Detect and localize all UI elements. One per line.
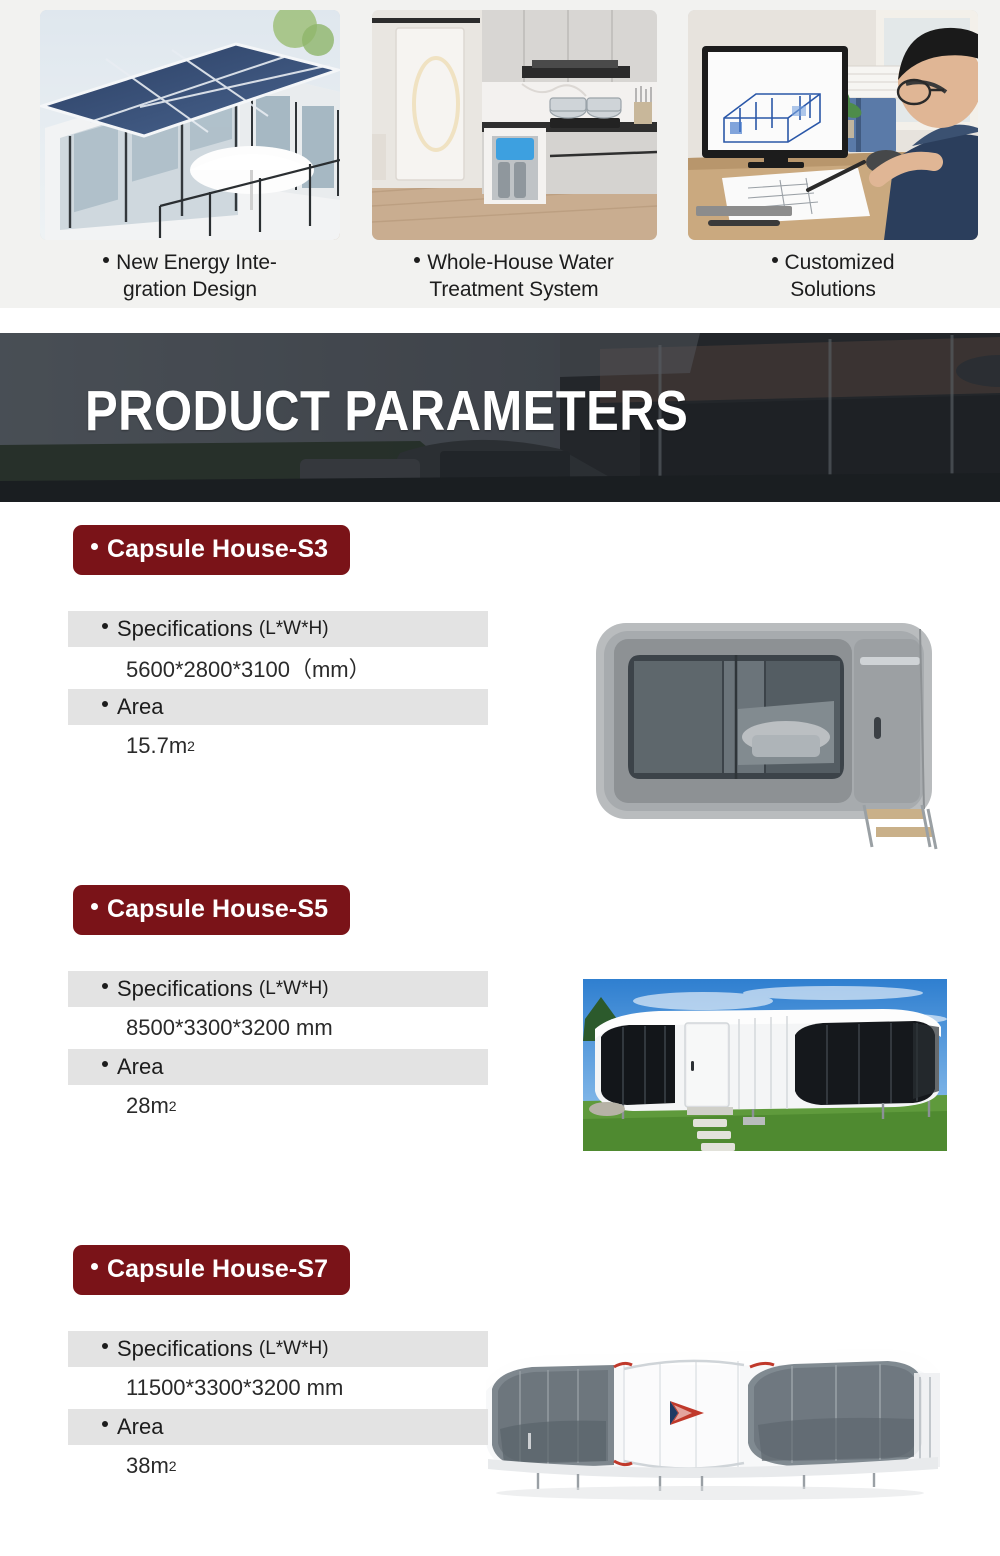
capsule-house-s7-photo[interactable] xyxy=(474,1333,948,1503)
kitchen-water-filtration-photo[interactable] xyxy=(372,10,657,240)
area-row-value: 38m2 xyxy=(68,1445,488,1487)
bullet-icon xyxy=(102,1421,108,1427)
spec-label-text: Specifications xyxy=(117,1336,253,1362)
area-value-text: 38m xyxy=(126,1453,169,1479)
bullet-icon xyxy=(102,983,108,989)
area-row-value: 28m2 xyxy=(68,1085,488,1127)
product-block-s5: Capsule House-S5 xyxy=(0,885,1000,1245)
area-label-text: Area xyxy=(117,1054,163,1080)
spec-label-suffix: (L*W*H) xyxy=(259,978,329,1000)
spec-row-label: Specifications (L*W*H) xyxy=(68,971,488,1007)
capsule-house-s3-photo[interactable] xyxy=(588,613,948,861)
bullet-icon xyxy=(102,1343,108,1349)
area-row-label: Area xyxy=(68,1409,488,1445)
bullet-icon xyxy=(772,257,778,263)
product-block-s3: Capsule House-S3 xyxy=(0,525,1000,895)
product-name-badge-s7[interactable]: Capsule House-S7 xyxy=(73,1245,350,1295)
bullet-icon xyxy=(414,257,420,263)
area-row-label: Area xyxy=(68,1049,488,1085)
spec-label-suffix: (L*W*H) xyxy=(259,618,329,640)
spec-row-label: Specifications (L*W*H) xyxy=(68,1331,488,1367)
spec-row-value: 11500*3300*3200 mm xyxy=(68,1367,488,1409)
spec-row-value: 5600*2800*3100（mm） xyxy=(68,647,488,689)
feature-caption-text: Whole-House WaterTreatment System xyxy=(427,251,614,301)
product-name-badge-s5[interactable]: Capsule House-S5 xyxy=(73,885,350,935)
feature-item-water-treatment[interactable]: Whole-House WaterTreatment System xyxy=(372,10,657,308)
bullet-icon xyxy=(91,543,98,550)
feature-caption: New Energy Inte-gration Design xyxy=(103,250,277,304)
spec-label-suffix: (L*W*H) xyxy=(259,1338,329,1360)
product-name: Capsule House-S3 xyxy=(107,535,328,563)
area-label-text: Area xyxy=(117,694,163,720)
capsule-house-s5-photo[interactable] xyxy=(583,979,947,1151)
bullet-icon xyxy=(103,257,109,263)
area-row-value: 15.7m2 xyxy=(68,725,488,767)
spec-table-s3: Specifications (L*W*H) 5600*2800*3100（mm… xyxy=(68,611,488,767)
feature-highlights-strip: New Energy Inte-gration Design xyxy=(0,0,1000,308)
spec-row-value: 8500*3300*3200 mm xyxy=(68,1007,488,1049)
spec-row-label: Specifications (L*W*H) xyxy=(68,611,488,647)
area-value-text: 15.7m xyxy=(126,733,187,759)
area-label-text: Area xyxy=(117,1414,163,1440)
bullet-icon xyxy=(91,1263,98,1270)
spec-table-s7: Specifications (L*W*H) 11500*3300*3200 m… xyxy=(68,1331,488,1487)
feature-caption-text: New Energy Inte-gration Design xyxy=(116,251,277,301)
product-name: Capsule House-S7 xyxy=(107,1255,328,1283)
product-parameters-banner: PRODUCT PARAMETERS xyxy=(0,333,1000,502)
feature-item-customized-solutions[interactable]: CustomizedSolutions xyxy=(688,10,978,308)
solar-panel-modular-house-photo[interactable] xyxy=(40,10,340,240)
designer-cad-workstation-photo[interactable] xyxy=(688,10,978,240)
feature-caption: CustomizedSolutions xyxy=(772,250,895,304)
feature-caption-text: CustomizedSolutions xyxy=(785,251,895,301)
product-block-s7: Capsule House-S7 xyxy=(0,1245,1000,1556)
page-title: PRODUCT PARAMETERS xyxy=(85,383,688,440)
area-row-label: Area xyxy=(68,689,488,725)
bullet-icon xyxy=(91,903,98,910)
bullet-icon xyxy=(102,1061,108,1067)
spec-label-text: Specifications xyxy=(117,976,253,1002)
product-name-badge-s3[interactable]: Capsule House-S3 xyxy=(73,525,350,575)
feature-item-new-energy[interactable]: New Energy Inte-gration Design xyxy=(40,10,340,308)
feature-caption: Whole-House WaterTreatment System xyxy=(414,250,614,304)
spec-label-text: Specifications xyxy=(117,616,253,642)
bullet-icon xyxy=(102,701,108,707)
area-value-text: 28m xyxy=(126,1093,169,1119)
spec-table-s5: Specifications (L*W*H) 8500*3300*3200 mm… xyxy=(68,971,488,1127)
product-name: Capsule House-S5 xyxy=(107,895,328,923)
bullet-icon xyxy=(102,623,108,629)
